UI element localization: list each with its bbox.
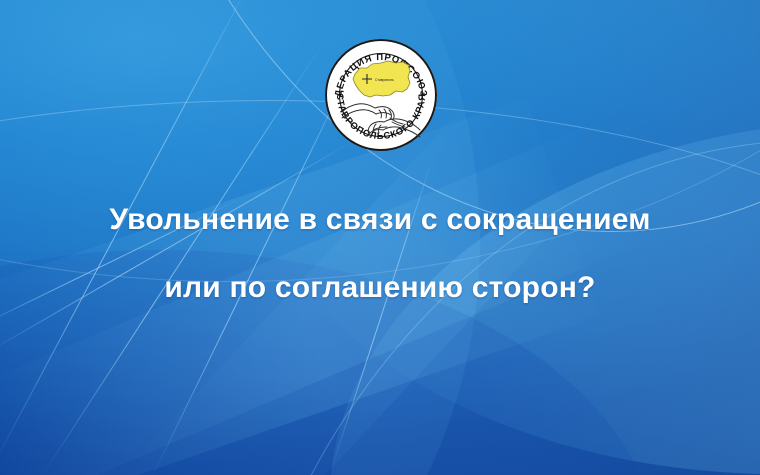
headline-line-2: или по соглашению сторон? xyxy=(0,271,760,305)
map-capital-label: Ставрополь xyxy=(375,78,394,82)
organization-logo: ФЕДЕРАЦИЯ ПРОФСОЮЗОВ СТАВРОПОЛЬСКОГО КРА… xyxy=(324,38,438,152)
slide-canvas: ФЕДЕРАЦИЯ ПРОФСОЮЗОВ СТАВРОПОЛЬСКОГО КРА… xyxy=(0,0,760,475)
headline-line-1: Увольнение в связи с сокращением xyxy=(0,203,760,237)
